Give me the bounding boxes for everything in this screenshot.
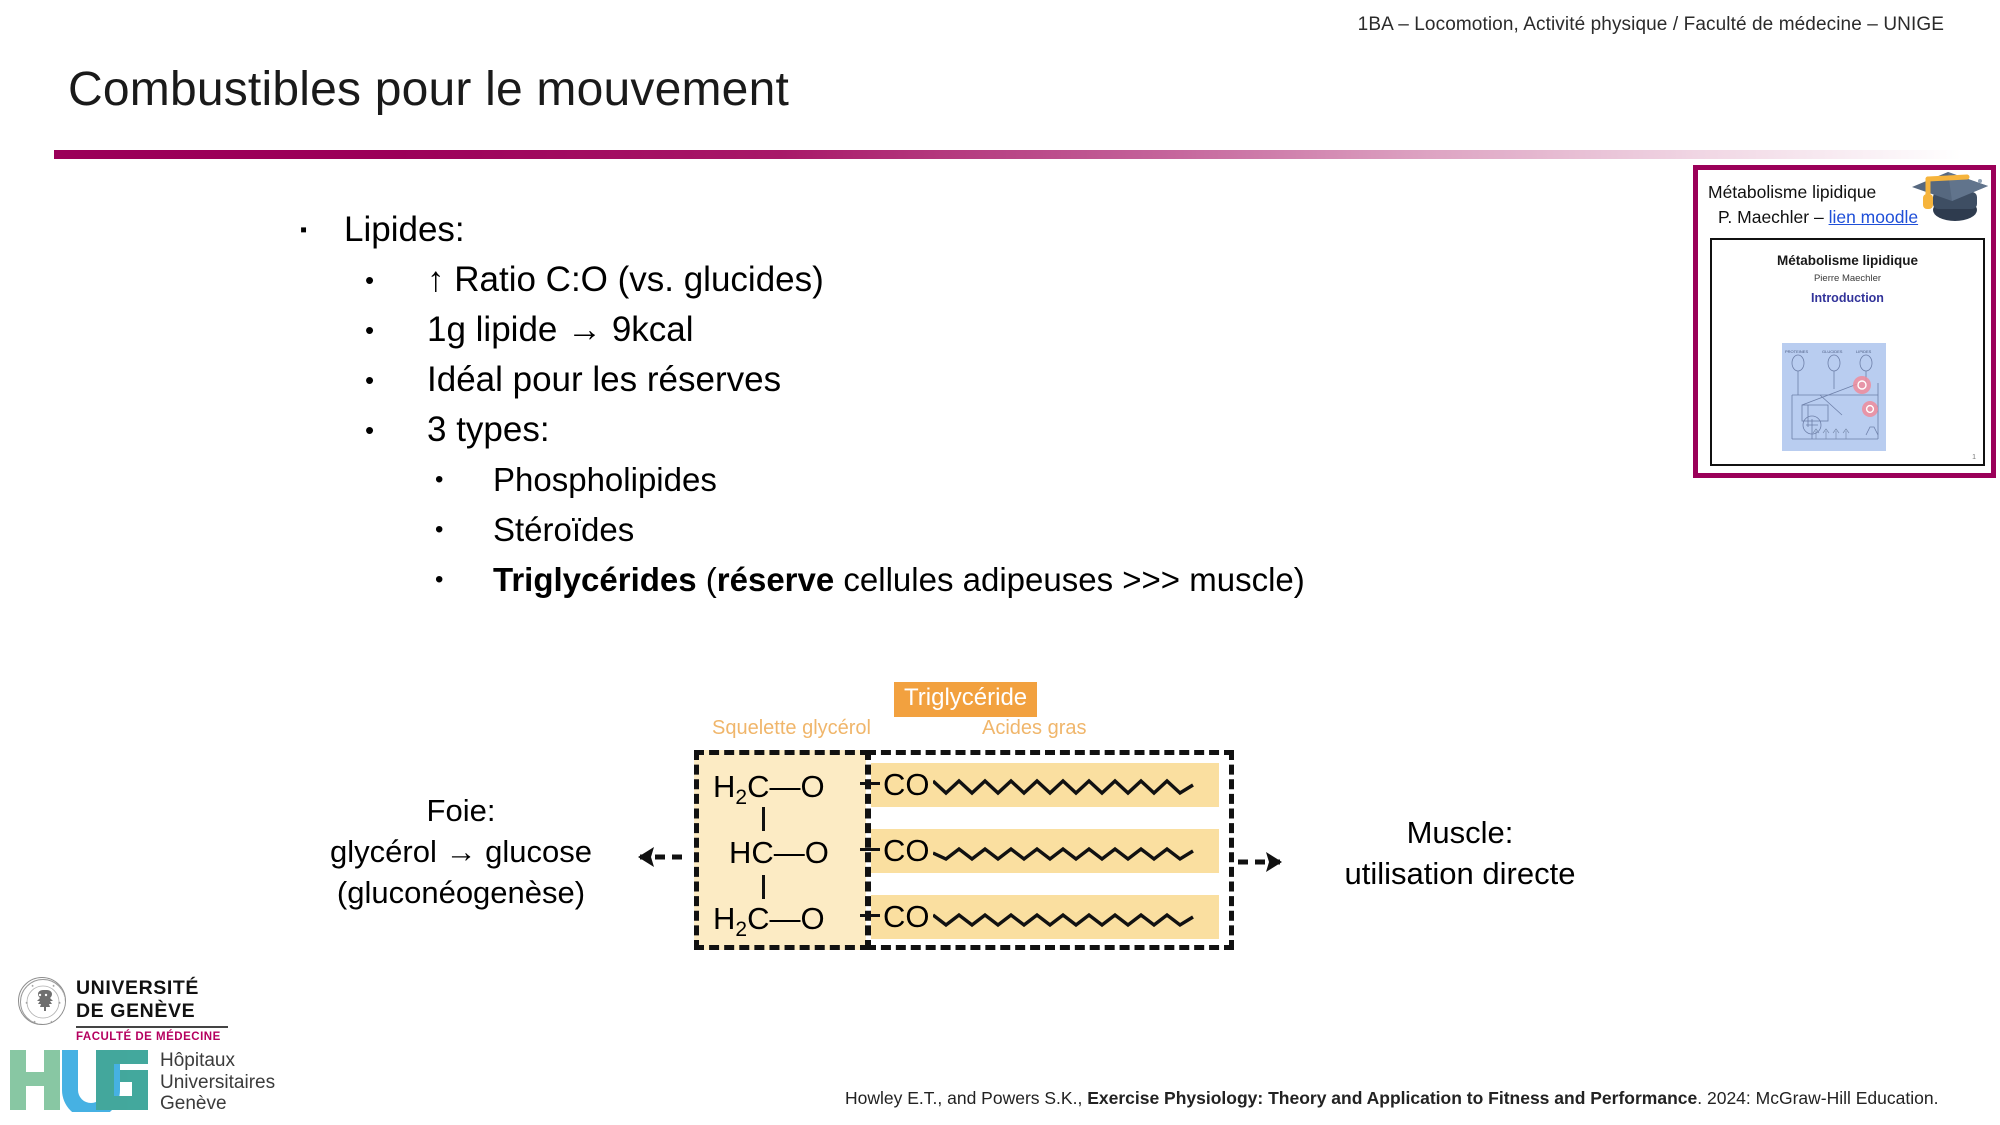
triglyceride-diagram: Triglycéride Squelette glycérol Acides g…: [694, 682, 1234, 967]
glycerol-backbone-box: H2C—O HC—O H2C—O: [694, 750, 870, 950]
bullet-item-3-types: • 3 types:: [365, 405, 1450, 455]
carbonyl-label: CO: [883, 895, 930, 939]
caption-muscle: Muscle: utilisation directe: [1300, 812, 1620, 894]
bullet-label-strong-triglycerides: Triglycérides: [493, 561, 697, 598]
ester-connector-1: [860, 782, 880, 785]
citation-book-title: Exercise Physiology: Theory and Applicat…: [1087, 1088, 1697, 1108]
glycerol-bond-label: —O: [769, 769, 824, 804]
unige-line-1: UNIVERSITÉ: [76, 977, 228, 1000]
bullet-marker-dot: •: [435, 505, 493, 555]
carbonyl-label: CO: [883, 829, 930, 873]
bullet-label: Idéal pour les réserves: [427, 355, 781, 405]
bullet-marker-dot: •: [365, 405, 427, 455]
bullet-item-steroides: • Stéroïdes: [435, 505, 1450, 555]
caption-liver: Foie: glycérol → glucose (gluconéogenèse…: [316, 790, 606, 913]
moodle-link[interactable]: lien moodle: [1829, 207, 1919, 227]
glycerol-vertical-bond: [762, 875, 765, 899]
bullet-label: 1g lipide → 9kcal: [427, 305, 694, 355]
unige-wordmark: UNIVERSITÉ DE GENÈVE FACULTÉ DE MÉDECINE: [76, 977, 228, 1043]
bullet-marker-dot: •: [365, 355, 427, 405]
hug-logo: Hôpitaux Universitaires Genève: [8, 1048, 298, 1118]
caption-muscle-line-2: utilisation directe: [1300, 853, 1620, 894]
bullet-marker-dot: •: [435, 555, 493, 605]
ester-connector-3: [860, 914, 880, 917]
ester-connector-2: [860, 848, 880, 851]
bullet-label: Stéroïdes: [493, 505, 634, 555]
bullet-label: Lipides:: [344, 205, 465, 255]
unige-crest-icon: ★★ ★★ ★★: [18, 977, 66, 1025]
svg-text:★: ★: [58, 1001, 61, 1005]
citation-authors: Howley E.T., and Powers S.K.,: [845, 1088, 1087, 1108]
glycerol-row-2: HC—O: [729, 835, 829, 871]
hydrocarbon-zigzag-1: [933, 767, 1205, 803]
glycerol-bond-label: —O: [774, 835, 829, 870]
moodle-caption-line-1: Métabolisme lipidique: [1708, 180, 1983, 205]
hug-line-3: Genève: [160, 1093, 275, 1115]
svg-text:★: ★: [33, 1020, 36, 1024]
thumbnail-author: Pierre Maechler: [1712, 273, 1983, 284]
unige-line-2: DE GENÈVE: [76, 1000, 228, 1023]
bullet-label: Ratio C:O (vs. glucides): [454, 260, 824, 299]
bullet-item-reserves: • Idéal pour les réserves: [365, 355, 1450, 405]
bullet-item-kcal: • 1g lipide → 9kcal: [365, 305, 1450, 355]
bullet-marker-dot: •: [435, 455, 493, 505]
hydrocarbon-zigzag-2: [933, 833, 1205, 869]
bullet-marker-square: ▪: [300, 205, 344, 255]
title-divider: [54, 150, 1962, 159]
moodle-slide-thumbnail[interactable]: Métabolisme lipidique Pierre Maechler In…: [1710, 238, 1985, 466]
triglyceride-badge: Triglycéride: [894, 682, 1037, 717]
moodle-caption: Métabolisme lipidique P. Maechler – lien…: [1698, 170, 1991, 230]
thumbnail-metabolism-diagram: PROTEINES GLUCIDES LIPIDES: [1782, 343, 1886, 451]
svg-text:★: ★: [52, 984, 55, 988]
thumbnail-section-heading: Introduction: [1712, 291, 1983, 305]
citation-publisher: . 2024: McGraw-Hill Education.: [1697, 1088, 1938, 1108]
bullet-label-tail: cellules adipeuses >>> muscle): [834, 561, 1305, 598]
bullet-item-triglycerides: • Triglycérides (réserve cellules adipeu…: [435, 555, 1450, 605]
hug-line-1: Hôpitaux: [160, 1050, 275, 1072]
dashed-arrow-right-icon: [1236, 845, 1300, 879]
svg-text:LIPIDES: LIPIDES: [1856, 349, 1872, 354]
hug-line-2: Universitaires: [160, 1072, 275, 1094]
svg-text:★: ★: [31, 984, 34, 988]
bullet-item-ratio-co: • ↑ Ratio C:O (vs. glucides): [365, 255, 1450, 305]
hydrocarbon-zigzag-3: [933, 899, 1205, 935]
glycerol-bond-label: —O: [769, 901, 824, 936]
svg-text:GLUCIDES: GLUCIDES: [1822, 349, 1843, 354]
moodle-callout-box[interactable]: Métabolisme lipidique P. Maechler – lien…: [1693, 165, 1996, 478]
bullet-label: 3 types:: [427, 405, 550, 455]
svg-text:★: ★: [50, 1020, 53, 1024]
bullet-item-lipides: ▪ Lipides:: [300, 205, 1450, 255]
caption-liver-line-2: glycérol → glucose: [316, 831, 606, 872]
unige-logo: ★★ ★★ ★★ UNIVERSITÉ DE GENÈVE FACULTÉ DE…: [18, 975, 228, 1053]
caption-liver-line-1: Foie:: [316, 790, 606, 831]
fatty-acids-label: Acides gras: [982, 717, 1087, 740]
carbonyl-label: CO: [883, 763, 930, 807]
thumbnail-title: Métabolisme lipidique: [1712, 253, 1983, 268]
dashed-arrow-left-icon: [620, 840, 684, 874]
bullet-marker-dot: •: [365, 255, 427, 305]
bullet-label: Phospholipides: [493, 455, 717, 505]
glycerol-vertical-bond: [762, 807, 765, 831]
moodle-caption-line-2-prefix: P. Maechler –: [1718, 207, 1829, 227]
bullet-marker-dot: •: [365, 305, 427, 355]
thumbnail-page-number: 1: [1972, 454, 1976, 461]
fatty-acid-chain-2: CO: [871, 829, 1219, 873]
unige-faculty-label: FACULTÉ DE MÉDECINE: [76, 1031, 228, 1043]
hug-wordmark: Hôpitaux Universitaires Genève: [160, 1050, 275, 1115]
fatty-acid-chain-1: CO: [871, 763, 1219, 807]
citation-reference: Howley E.T., and Powers S.K., Exercise P…: [845, 1088, 1938, 1109]
slide-header-course-line: 1BA – Locomotion, Activité physique / Fa…: [1358, 14, 1944, 36]
bullet-label-strong-reserve: réserve: [717, 561, 834, 598]
unige-divider: [76, 1026, 228, 1028]
page-title: Combustibles pour le mouvement: [68, 62, 789, 117]
arrow-up-icon: ↑: [427, 260, 445, 299]
hug-monogram-icon: [8, 1048, 150, 1112]
bullet-item-phospholipides: • Phospholipides: [435, 455, 1450, 505]
caption-muscle-line-1: Muscle:: [1300, 812, 1620, 853]
fatty-acids-box: CO CO CO: [866, 750, 1234, 950]
glycerol-row-1: H2C—O: [713, 769, 825, 810]
bullet-label-mid: (: [697, 561, 717, 598]
glycerol-row-3: H2C—O: [713, 901, 825, 942]
glycerol-backbone-label: Squelette glycérol: [712, 717, 871, 740]
bullet-list: ▪ Lipides: • ↑ Ratio C:O (vs. glucides) …: [300, 205, 1450, 605]
caption-liver-line-3: (gluconéogenèse): [316, 872, 606, 913]
fatty-acid-chain-3: CO: [871, 895, 1219, 939]
svg-text:PROTEINES: PROTEINES: [1785, 349, 1808, 354]
svg-text:★: ★: [25, 1001, 28, 1005]
